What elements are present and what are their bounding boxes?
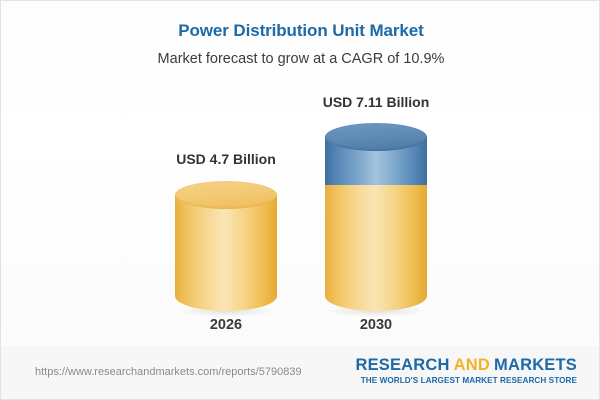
value-label-2030: USD 7.11 Billion bbox=[296, 94, 456, 111]
bar-segment-base-2030 bbox=[325, 185, 427, 311]
bar-cylinder-2030[interactable] bbox=[325, 123, 427, 311]
category-label-2030: 2030 bbox=[296, 316, 456, 334]
logo-word-markets: MARKETS bbox=[494, 356, 577, 374]
bar-segment-base-2026 bbox=[175, 195, 277, 311]
logo-word-and: AND bbox=[454, 356, 490, 374]
category-label-2026: 2026 bbox=[146, 316, 306, 334]
logo-word-research: RESEARCH bbox=[355, 356, 449, 374]
infographic-card: Power Distribution Unit Market Market fo… bbox=[0, 0, 600, 400]
bar-group-2030: USD 7.11 Billion 2030 bbox=[296, 1, 456, 346]
bar-cylinder-2026[interactable] bbox=[175, 181, 277, 311]
logo-tagline: THE WORLD'S LARGEST MARKET RESEARCH STOR… bbox=[355, 376, 577, 386]
value-label-2026: USD 4.7 Billion bbox=[146, 151, 306, 168]
bar-cap-2030 bbox=[325, 123, 427, 151]
research-and-markets-logo[interactable]: RESEARCHANDMARKETS THE WORLD'S LARGEST M… bbox=[355, 356, 577, 386]
footer-bar: https://www.researchandmarkets.com/repor… bbox=[1, 346, 599, 399]
report-url[interactable]: https://www.researchandmarkets.com/repor… bbox=[35, 365, 302, 379]
logo-wordmark: RESEARCHANDMARKETS bbox=[355, 356, 577, 375]
chart-plot-area: USD 4.7 Billion 2026 USD 7.11 Billion 20… bbox=[1, 1, 600, 346]
bar-group-2026: USD 4.7 Billion 2026 bbox=[146, 1, 306, 346]
bar-cap-2026 bbox=[175, 181, 277, 209]
